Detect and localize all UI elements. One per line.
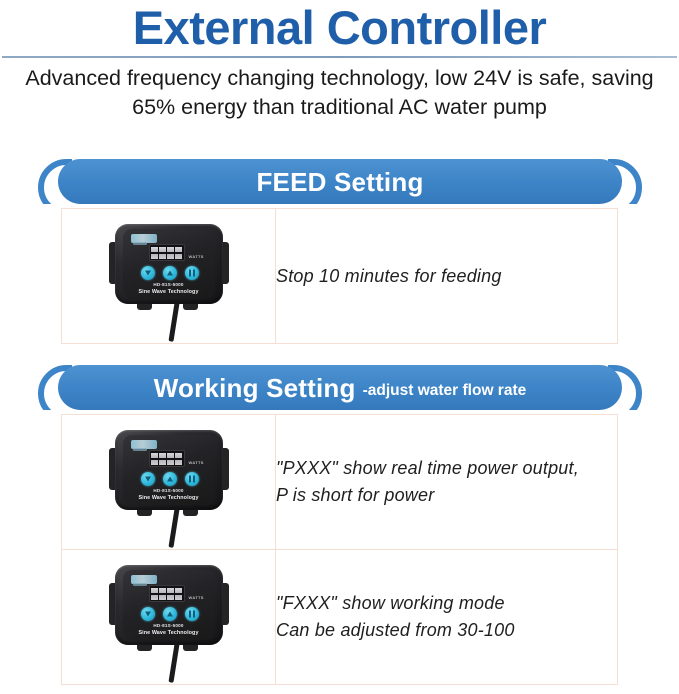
device-model-label: HD-81S-5000 xyxy=(123,488,215,493)
page-title: External Controller xyxy=(0,2,679,54)
brand-logo-underline-icon xyxy=(133,448,147,451)
up-triangle-icon xyxy=(167,612,173,617)
table-row: WATTS HD-81S-5000 Sine Wave Technology xyxy=(62,209,618,344)
power-cable xyxy=(168,300,180,342)
device-body: WATTS HD-81S-5000 Sine Wave Technology xyxy=(115,430,223,510)
pause-button[interactable] xyxy=(185,607,199,621)
device-button-row xyxy=(141,607,199,621)
title-divider xyxy=(2,56,677,58)
brand-logo-underline-icon xyxy=(133,242,147,245)
table-row: WATTS HD-81S-5000 Sine Wave Technology xyxy=(62,415,618,550)
up-button[interactable] xyxy=(163,472,177,486)
lcd-digit xyxy=(167,588,174,600)
device-button-row xyxy=(141,266,199,280)
device-faceplate: WATTS HD-81S-5000 Sine Wave Technology xyxy=(123,570,215,640)
device-tagline-label: Sine Wave Technology xyxy=(123,289,215,295)
description-cell: "FXXX" show working modeCan be adjusted … xyxy=(276,550,618,685)
device-tagline-label: Sine Wave Technology xyxy=(123,630,215,636)
device-body: WATTS HD-81S-5000 Sine Wave Technology xyxy=(115,565,223,645)
controller-device-illustration: WATTS HD-81S-5000 Sine Wave Technology xyxy=(107,559,231,681)
up-button[interactable] xyxy=(163,266,177,280)
pause-button[interactable] xyxy=(185,472,199,486)
table-row: WATTS HD-81S-5000 Sine Wave Technology xyxy=(62,550,618,685)
pause-icon xyxy=(189,270,195,277)
lcd-display xyxy=(149,244,185,261)
feed-description: Stop 10 minutes for feeding xyxy=(276,263,617,290)
banner-pill-feed: FEED Setting xyxy=(58,159,622,204)
controller-image-cell: WATTS HD-81S-5000 Sine Wave Technology xyxy=(62,415,276,550)
banner-subtitle-working: -adjust water flow rate xyxy=(363,382,527,400)
banner-title-working: Working Setting xyxy=(154,374,356,402)
lcd-digit xyxy=(159,588,166,600)
working-setting-table: WATTS HD-81S-5000 Sine Wave Technology xyxy=(61,414,618,685)
down-triangle-icon xyxy=(145,612,151,617)
down-triangle-icon xyxy=(145,477,151,482)
power-cable xyxy=(168,506,180,548)
description-cell: Stop 10 minutes for feeding xyxy=(276,209,618,344)
description-cell: "PXXX" show real time power output,P is … xyxy=(276,415,618,550)
lcd-digit xyxy=(167,247,174,259)
device-body: WATTS HD-81S-5000 Sine Wave Technology xyxy=(115,224,223,304)
pause-button[interactable] xyxy=(185,266,199,280)
power-description: "PXXX" show real time power output,P is … xyxy=(276,455,617,509)
power-cable xyxy=(168,641,180,683)
feed-setting-table: WATTS HD-81S-5000 Sine Wave Technology xyxy=(61,208,618,344)
lcd-digit xyxy=(159,247,166,259)
device-faceplate: WATTS HD-81S-5000 Sine Wave Technology xyxy=(123,435,215,505)
watts-label: WATTS xyxy=(189,595,204,600)
device-faceplate: WATTS HD-81S-5000 Sine Wave Technology xyxy=(123,229,215,299)
lcd-display xyxy=(149,450,185,467)
down-button[interactable] xyxy=(141,266,155,280)
device-tagline-label: Sine Wave Technology xyxy=(123,495,215,501)
section-banner-working: Working Setting -adjust water flow rate xyxy=(38,365,642,410)
up-triangle-icon xyxy=(167,477,173,482)
device-button-row xyxy=(141,472,199,486)
brand-logo-underline-icon xyxy=(133,583,147,586)
up-button[interactable] xyxy=(163,607,177,621)
lcd-digit xyxy=(167,453,174,465)
lcd-digit xyxy=(151,588,158,600)
banner-pill-working: Working Setting -adjust water flow rate xyxy=(58,365,622,410)
banner-title-feed: FEED Setting xyxy=(256,168,423,196)
watts-label: WATTS xyxy=(189,254,204,259)
section-banner-feed: FEED Setting xyxy=(38,159,642,204)
pause-icon xyxy=(189,476,195,483)
lcd-display xyxy=(149,585,185,602)
pause-icon xyxy=(189,611,195,618)
controller-image-cell: WATTS HD-81S-5000 Sine Wave Technology xyxy=(62,550,276,685)
lcd-digit xyxy=(159,453,166,465)
device-model-label: HD-81S-5000 xyxy=(123,623,215,628)
controller-device-illustration: WATTS HD-81S-5000 Sine Wave Technology xyxy=(107,218,231,340)
lcd-digit xyxy=(175,247,182,259)
page-subtitle: Advanced frequency changing technology, … xyxy=(8,64,671,122)
up-triangle-icon xyxy=(167,271,173,276)
lcd-digit xyxy=(151,453,158,465)
lcd-digit xyxy=(175,453,182,465)
down-button[interactable] xyxy=(141,607,155,621)
product-infographic-page: External Controller Advanced frequency c… xyxy=(0,0,679,694)
controller-device-illustration: WATTS HD-81S-5000 Sine Wave Technology xyxy=(107,424,231,546)
lcd-digit xyxy=(151,247,158,259)
device-model-label: HD-81S-5000 xyxy=(123,282,215,287)
controller-image-cell: WATTS HD-81S-5000 Sine Wave Technology xyxy=(62,209,276,344)
lcd-digit xyxy=(175,588,182,600)
watts-label: WATTS xyxy=(189,460,204,465)
mode-description: "FXXX" show working modeCan be adjusted … xyxy=(276,590,617,644)
down-button[interactable] xyxy=(141,472,155,486)
down-triangle-icon xyxy=(145,271,151,276)
